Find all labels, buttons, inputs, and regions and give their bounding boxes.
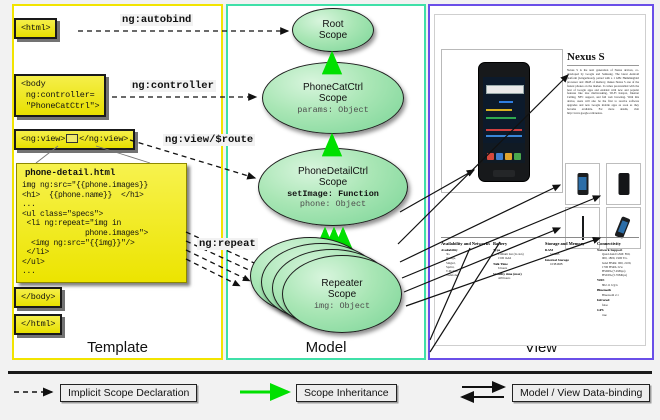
legend-item-data-binding: Model / View Data-binding xyxy=(512,384,650,402)
phone-search-widget-icon xyxy=(486,85,524,94)
spec-value: Vodafone xyxy=(441,273,491,277)
spec-value: 428 hours xyxy=(493,276,543,280)
panel-model-label: Model xyxy=(228,339,424,356)
spec-column: ConnectivityNetwork SupportQuad-band GSM… xyxy=(597,241,646,317)
view-phone-title: Nexus S xyxy=(567,51,605,63)
thumb-phone-front-icon xyxy=(577,173,588,195)
tag-body-open: <body ng:controller= "PhoneCatCtrl"> xyxy=(14,74,106,117)
phone-dock xyxy=(483,143,525,163)
view-thumbnail-1[interactable] xyxy=(565,163,600,205)
scope-phonedetailctrl-prop-setimage: setImage: Function xyxy=(287,189,379,199)
spec-column-header: Battery xyxy=(493,241,543,246)
phone-screen xyxy=(483,77,525,163)
ngview-placeholder-icon xyxy=(66,134,78,143)
tag-html-close: </html> xyxy=(14,314,62,335)
edge-label-route: ng:view/$route xyxy=(163,134,255,146)
scope-root: RootScope xyxy=(292,8,374,52)
phone-home-button-icon xyxy=(493,170,515,177)
scope-phonecatctrl-props: params: Object xyxy=(297,105,368,115)
edge-label-controller: ng:controller xyxy=(130,80,216,92)
spec-value: Bluetooth 2.1 xyxy=(597,293,646,297)
scope-repeater-props: img: Object xyxy=(314,301,370,311)
spec-value: false xyxy=(597,303,646,307)
spec-column: BatteryTypeLithium Ion (Li-Ion)1500 mAhT… xyxy=(493,241,543,281)
tag-ngview: <ng:view></ng:view> xyxy=(14,129,135,150)
specs-divider xyxy=(441,237,639,238)
tag-ngview-close: </ng:view> xyxy=(79,134,128,144)
spec-value: 1500 mAh xyxy=(493,256,543,260)
panel-template-label: Template xyxy=(14,339,221,356)
hero-image-frame xyxy=(441,49,563,193)
spec-value: 802.11 b/g/n xyxy=(597,283,646,287)
phone-hero-image xyxy=(478,62,530,182)
code-note-body: img ng:src="{{phone.images}} <h1> {{phon… xyxy=(17,180,186,282)
spec-column-header: Availability and Networks xyxy=(441,241,491,246)
code-note-phone-detail: phone-detail.html img ng:src="{{phone.im… xyxy=(16,163,187,283)
scope-phonedetailctrl: PhoneDetailCtrlScope setImage: Function … xyxy=(258,148,408,226)
code-note-title: phone-detail.html xyxy=(17,164,186,180)
spec-column-header: Connectivity xyxy=(597,241,646,246)
spec-column-header: Storage and Memory xyxy=(545,241,595,246)
tag-body-close: </body> xyxy=(14,287,62,308)
scope-root-name: RootScope xyxy=(319,19,347,42)
edge-label-repeat: ng:repeat xyxy=(197,238,258,250)
scope-phonedetailctrl-prop-phone: phone: Object xyxy=(300,199,366,209)
legend-divider xyxy=(8,371,652,374)
spec-column: Storage and MemoryRAM512MBInternal Stora… xyxy=(545,241,595,266)
legend-item-scope-inheritance: Scope Inheritance xyxy=(296,384,397,402)
tag-html-open: <html> xyxy=(14,18,57,39)
scope-phonedetailctrl-name: PhoneDetailCtrlScope xyxy=(298,166,368,189)
edge-label-autobind: ng:autobind xyxy=(120,14,193,26)
legend-item-implicit-scope: Implicit Scope Declaration xyxy=(60,384,197,402)
spec-value: HSUPA (5.76Mbps) xyxy=(597,273,646,277)
view-rendered-page: Nexus S Nexus S is the next generation o… xyxy=(434,14,646,346)
scope-repeater-name: RepeaterScope xyxy=(321,278,362,301)
spec-value: 6 hours xyxy=(493,266,543,270)
view-title-rule xyxy=(567,65,639,66)
spec-value: 512MB xyxy=(545,252,595,256)
thumb-phone-back-icon xyxy=(618,173,629,195)
tag-ngview-open: <ng:view> xyxy=(21,134,65,144)
thumb-phone-angled-icon xyxy=(616,217,632,239)
scope-phonecatctrl-name: PhoneCatCtrlScope xyxy=(303,82,363,105)
spec-column: Availability and NetworksAvailability3GO… xyxy=(441,241,491,277)
angular-scope-diagram: Template Model View <html> <body ng:cont… xyxy=(0,0,660,420)
view-phone-description: Nexus S is the next generation of Nexus … xyxy=(567,69,639,116)
scope-repeater: RepeaterScope img: Object xyxy=(282,255,402,333)
spec-value: true xyxy=(597,313,646,317)
spec-value: 16384MB xyxy=(545,262,595,266)
scope-phonecatctrl: PhoneCatCtrlScope params: Object xyxy=(262,62,404,134)
view-thumbnail-2[interactable] xyxy=(606,163,641,205)
